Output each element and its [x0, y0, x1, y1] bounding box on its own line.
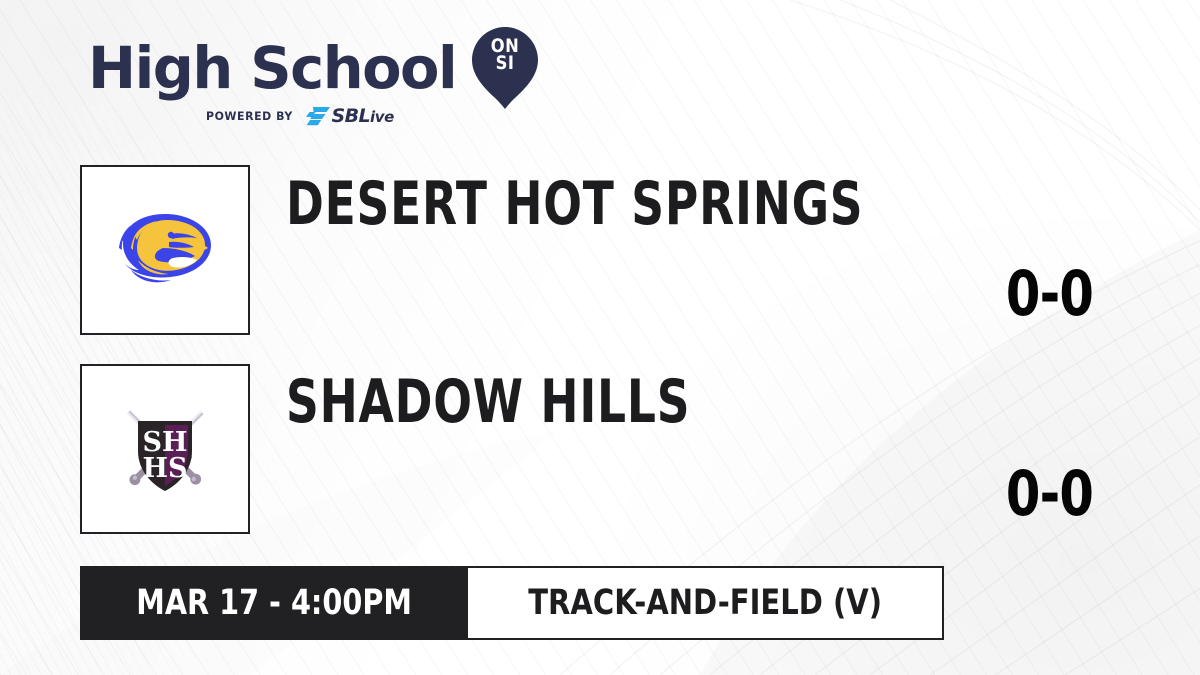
game-datetime-chip: MAR 17 - 4:00PM	[80, 566, 468, 640]
matchup-graphic: High School ON SI POWERED BY SBLive	[0, 0, 1200, 675]
team-row: DESERT HOT SPRINGS 0-0	[80, 165, 1120, 333]
sblive-wordmark: SBLive	[331, 107, 393, 126]
team-score: 0-0	[900, 463, 1200, 525]
sblive-word-suffix: ive	[370, 108, 394, 126]
sblive-s-mark-icon	[306, 107, 330, 126]
team-name: DESERT HOT SPRINGS	[286, 172, 863, 236]
powered-by-row: POWERED BY SBLive	[88, 105, 508, 127]
shield-crossed-swords-logo-icon: SH HS	[105, 389, 225, 509]
brand-title: High School	[88, 39, 456, 97]
team-logo-box: SH HS	[80, 364, 250, 534]
game-datetime-text: MAR 17 - 4:00PM	[136, 585, 412, 621]
powered-by-label: POWERED BY	[206, 109, 293, 123]
game-sport-chip: TRACK-AND-FIELD (V)	[468, 566, 944, 640]
brand-title-row: High School ON SI	[88, 34, 508, 102]
team-logo-box	[80, 165, 250, 335]
sblive-word-main: SBL	[331, 105, 369, 127]
team-score-value: 0-0	[1006, 463, 1093, 525]
on-si-pin-text: ON SI	[477, 38, 534, 72]
game-sport-text: TRACK-AND-FIELD (V)	[528, 585, 882, 621]
team-score-value: 0-0	[1006, 263, 1093, 325]
eagle-head-logo-icon	[105, 190, 225, 310]
game-info-bar: MAR 17 - 4:00PM TRACK-AND-FIELD (V)	[80, 566, 944, 640]
brand-lockup: High School ON SI POWERED BY SBLive	[88, 34, 508, 134]
on-si-pin-icon: ON SI	[472, 27, 538, 109]
team-row: SH HS SHADOW HILLS 0-0	[80, 364, 1120, 532]
svg-text:HS: HS	[142, 453, 187, 484]
sblive-logo: SBLive	[306, 107, 393, 126]
pin-line-si: SI	[477, 55, 534, 72]
team-score: 0-0	[900, 263, 1200, 325]
team-name: SHADOW HILLS	[286, 370, 690, 434]
